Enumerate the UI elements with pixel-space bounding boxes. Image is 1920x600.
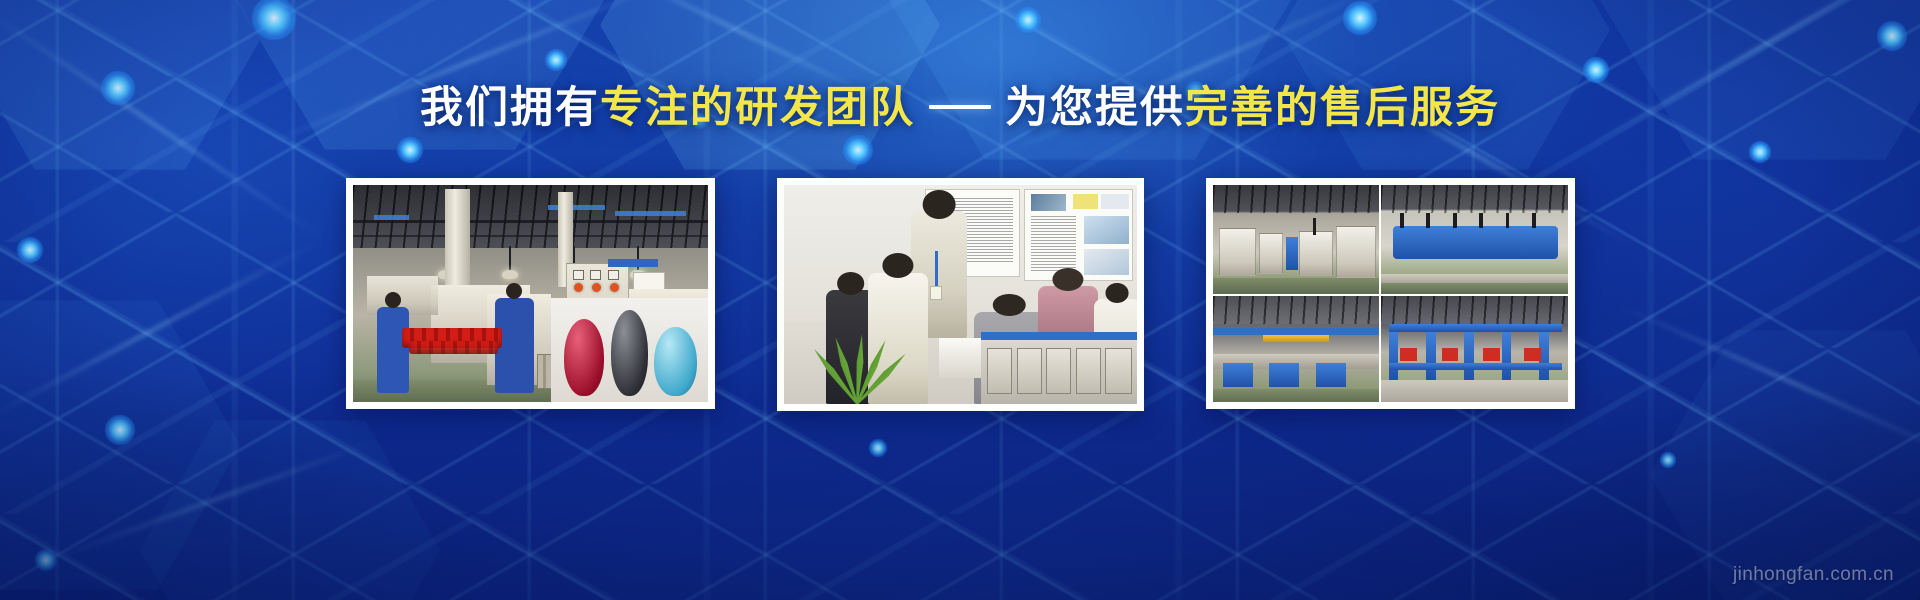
headline-segment-3: 为您提供 xyxy=(1005,84,1185,132)
headline-divider-dash xyxy=(929,105,991,109)
collage-quadrant-4 xyxy=(1381,296,1567,403)
collage-quadrant-1 xyxy=(1213,185,1380,294)
photo-card-equipment-collage xyxy=(1206,178,1575,409)
photo-card-rnd-team-meeting xyxy=(777,178,1144,411)
photo-production-line-workers xyxy=(353,185,708,402)
collage-quadrant-2 xyxy=(1381,185,1567,294)
collage-quadrant-3 xyxy=(1213,296,1380,403)
headline-segment-4: 完善的售后服务 xyxy=(1185,84,1500,132)
promo-banner: 我们拥有专注的研发团队为您提供完善的售后服务 xyxy=(0,0,1920,600)
photo-rnd-team-meeting xyxy=(784,185,1137,404)
site-watermark: jinhongfan.com.cn xyxy=(1733,564,1894,586)
page-title: 我们拥有专注的研发团队为您提供完善的售后服务 xyxy=(0,84,1920,132)
headline-segment-2: 专注的研发团队 xyxy=(600,84,915,132)
headline-segment-1: 我们拥有 xyxy=(420,84,600,132)
photo-card-production-line-workers xyxy=(346,178,715,409)
photo-equipment-collage xyxy=(1213,185,1568,402)
photo-card-row xyxy=(0,178,1920,413)
